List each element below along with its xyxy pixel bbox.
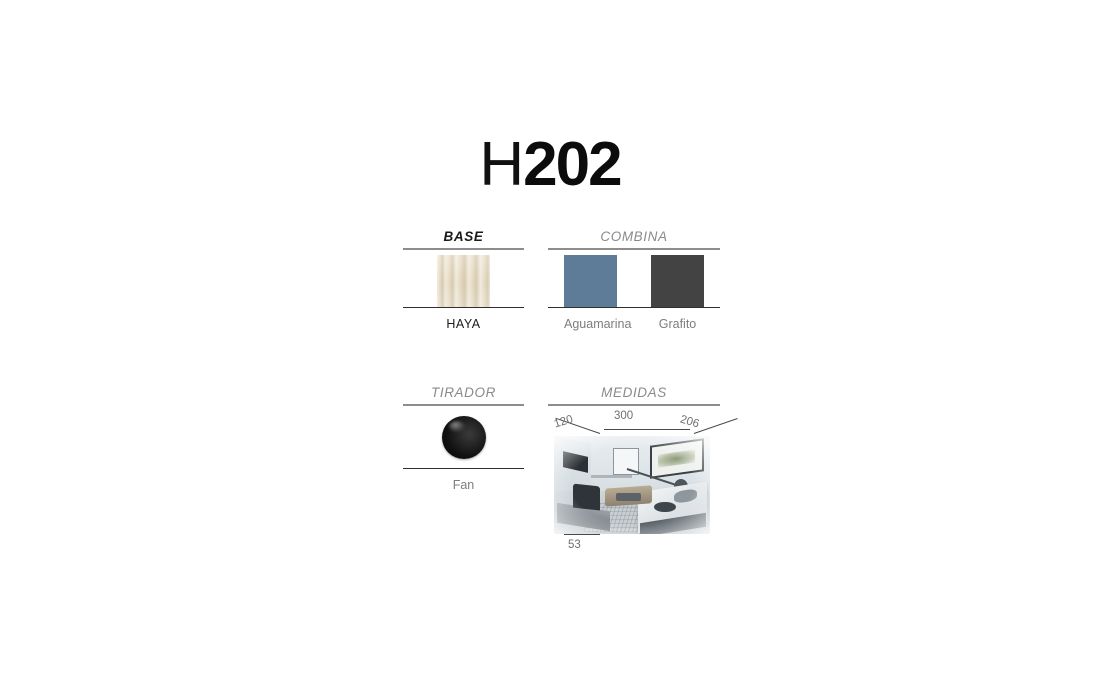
- room-render-image: [554, 436, 710, 534]
- panel-combina: COMBINA Aguamarina Grafito: [548, 230, 720, 331]
- swatch-label-grafito: Grafito: [651, 317, 704, 331]
- panel-medidas-heading: MEDIDAS: [548, 386, 720, 400]
- panel-tirador-rule-bottom: [403, 468, 524, 469]
- dimension-label-top: 300: [614, 410, 633, 422]
- knob-ring: [439, 414, 487, 460]
- panel-base: BASE HAYA: [403, 230, 524, 332]
- medidas-diagram: 120 300 206 53: [548, 406, 720, 556]
- panel-base-rule-bottom: [403, 307, 524, 308]
- panel-combina-heading: COMBINA: [548, 230, 720, 244]
- swatch-aguamarina[interactable]: [564, 255, 617, 307]
- swatch-grafito[interactable]: [651, 255, 704, 307]
- product-spec-sheet: H202 BASE HAYA COMBINA Aguamarina Grafit…: [0, 0, 1100, 700]
- panel-tirador: TIRADOR Fan: [403, 386, 524, 493]
- dimension-line-right: [694, 418, 738, 434]
- panel-tirador-caption: Fan: [403, 478, 524, 493]
- dimension-label-right: 206: [679, 413, 701, 430]
- dimension-line-top: [604, 429, 690, 430]
- dimension-label-bottom: 53: [568, 539, 581, 551]
- panel-base-heading: BASE: [403, 230, 524, 244]
- swatch-haya[interactable]: [437, 255, 490, 307]
- panel-medidas: MEDIDAS 120 300 206 53: [548, 386, 720, 556]
- panel-tirador-stage: [403, 406, 524, 468]
- title-prefix: H: [479, 130, 523, 199]
- panel-base-caption: HAYA: [403, 317, 524, 332]
- panel-combina-swatch-stage: [548, 250, 720, 307]
- room-vignette: [554, 436, 710, 534]
- page-title: H202: [0, 134, 1100, 196]
- panel-tirador-heading: TIRADOR: [403, 386, 524, 400]
- panel-base-swatch-stage: [403, 250, 524, 307]
- dimension-line-bottom: [564, 534, 600, 535]
- dimension-label-left: 120: [553, 413, 575, 430]
- knob-handle-icon[interactable]: [442, 416, 486, 459]
- swatch-label-aguamarina: Aguamarina: [564, 317, 617, 331]
- title-number: 202: [523, 130, 620, 199]
- panel-combina-captions: Aguamarina Grafito: [548, 317, 720, 331]
- panel-combina-rule-bottom: [548, 307, 720, 308]
